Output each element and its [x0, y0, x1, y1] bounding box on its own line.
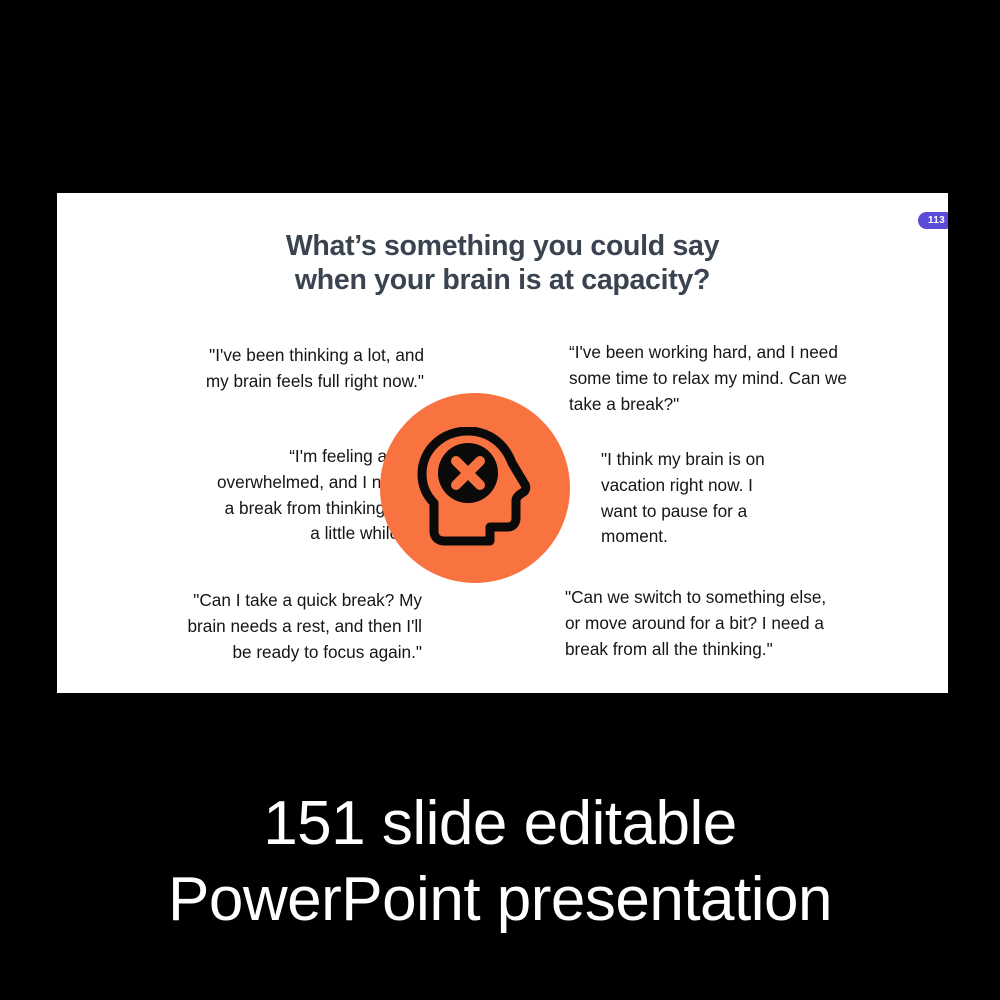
presentation-slide[interactable]: 113 What’s something you could say when … — [57, 193, 948, 693]
slide-title-line-2: when your brain is at capacity? — [57, 263, 948, 297]
page-root: 113 What’s something you could say when … — [0, 0, 1000, 1000]
quote-left-2: “I'm feeling a bit overwhelmed, and I ne… — [150, 444, 410, 547]
promo-caption: 151 slide editable PowerPoint presentati… — [0, 786, 1000, 939]
slide-title: What’s something you could say when your… — [57, 229, 948, 297]
slide-title-line-1: What’s something you could say — [57, 229, 948, 263]
quote-right-3: "Can we switch to something else, or mov… — [565, 585, 895, 662]
quote-right-2: "I think my brain is on vacation right n… — [601, 447, 816, 550]
center-orange-circle — [380, 393, 570, 583]
quote-left-3: "Can I take a quick break? My brain need… — [122, 588, 422, 665]
head-brain-x-icon — [416, 427, 534, 549]
slide-number-badge: 113 — [918, 212, 948, 229]
promo-caption-line-1: 151 slide editable — [0, 786, 1000, 862]
quote-right-1: “I've been working hard, and I need some… — [569, 340, 914, 417]
promo-caption-line-2: PowerPoint presentation — [0, 862, 1000, 938]
quote-left-1: "I've been thinking a lot, and my brain … — [104, 343, 424, 395]
